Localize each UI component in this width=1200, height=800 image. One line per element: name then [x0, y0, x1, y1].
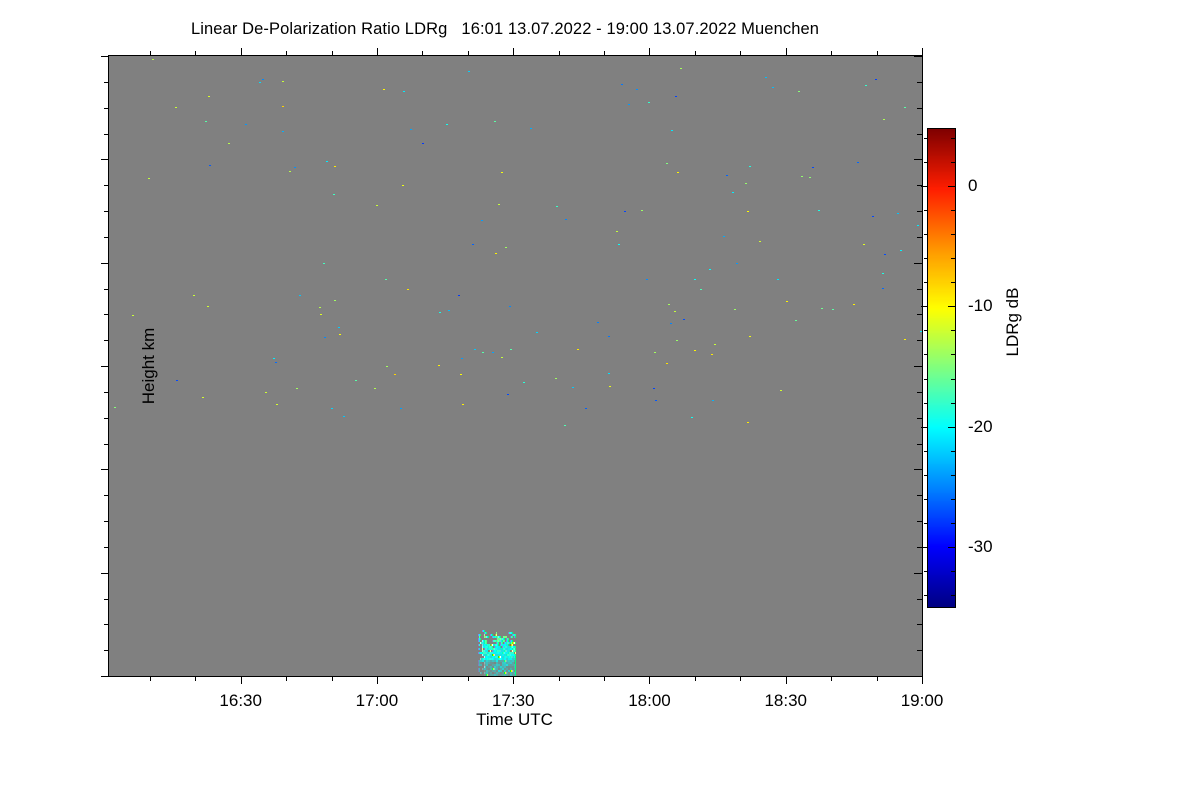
colorbar-tick-mirror	[924, 403, 928, 404]
y-tick-minor	[104, 211, 109, 212]
colorbar-tick-label: 0	[968, 176, 977, 196]
x-tick-minor	[286, 676, 287, 681]
colorbar-tick-mirror	[924, 379, 928, 380]
y-tick-minor	[104, 624, 109, 625]
y-tick-mirror	[917, 418, 922, 419]
y-tick-mirror	[917, 237, 922, 238]
colorbar-tick-label: -30	[968, 537, 993, 557]
colorbar-tick-mirror	[924, 595, 928, 596]
x-tick-mirror	[604, 51, 605, 56]
colorbar-tick-mirror	[921, 186, 928, 187]
x-tick-major	[649, 676, 650, 684]
x-tick-mirror	[786, 48, 787, 56]
x-tick-mirror	[377, 48, 378, 56]
colorbar-tick-minor	[951, 354, 955, 355]
x-tick-label: 19:00	[901, 691, 944, 711]
x-tick-mirror	[649, 48, 650, 56]
y-tick-mirror	[914, 366, 922, 367]
colorbar-tick-mirror	[924, 523, 928, 524]
colorbar-tick-mirror	[921, 427, 928, 428]
colorbar-tick-mirror	[924, 282, 928, 283]
x-tick-minor	[740, 676, 741, 681]
x-tick-label: 16:30	[219, 691, 262, 711]
x-tick-minor	[831, 676, 832, 681]
y-tick-major	[101, 56, 109, 57]
x-tick-major	[241, 676, 242, 684]
colorbar-tick-mirror	[924, 571, 928, 572]
colorbar-tick-mirror	[924, 475, 928, 476]
y-tick-mirror	[914, 263, 922, 264]
colorbar-tick-mirror	[924, 258, 928, 259]
y-tick-mirror	[914, 159, 922, 160]
y-tick-minor	[104, 418, 109, 419]
y-tick-minor	[104, 108, 109, 109]
y-tick-mirror	[917, 521, 922, 522]
y-tick-mirror	[917, 495, 922, 496]
x-tick-mirror	[740, 51, 741, 56]
x-axis-title: Time UTC	[108, 710, 921, 730]
x-tick-minor	[695, 676, 696, 681]
y-tick-minor	[104, 314, 109, 315]
colorbar-tick-mirror	[924, 499, 928, 500]
x-tick-label: 17:30	[492, 691, 535, 711]
colorbar-tick-minor	[951, 210, 955, 211]
colorbar-tick-mirror	[924, 451, 928, 452]
x-tick-mirror	[468, 51, 469, 56]
colorbar-title: LDRg dB	[1003, 242, 1023, 402]
x-tick-major	[786, 676, 787, 684]
colorbar-tick-minor	[951, 162, 955, 163]
y-tick-minor	[104, 134, 109, 135]
colorbar-tick-major	[948, 306, 955, 307]
y-tick-mirror	[917, 340, 922, 341]
y-tick-mirror	[917, 392, 922, 393]
x-tick-mirror	[877, 51, 878, 56]
colorbar-tick-minor	[951, 571, 955, 572]
y-tick-minor	[104, 599, 109, 600]
x-tick-mirror	[286, 51, 287, 56]
colorbar-tick-minor	[951, 138, 955, 139]
y-tick-mirror	[917, 444, 922, 445]
colorbar-tick-major	[948, 427, 955, 428]
y-axis-title: Height km	[139, 286, 159, 446]
x-tick-major	[513, 676, 514, 684]
x-tick-mirror	[559, 51, 560, 56]
x-tick-mirror	[513, 48, 514, 56]
colorbar-tick-major	[948, 186, 955, 187]
x-tick-minor	[559, 676, 560, 681]
y-tick-mirror	[914, 56, 922, 57]
colorbar-tick-minor	[951, 403, 955, 404]
x-tick-mirror	[922, 48, 923, 56]
x-tick-major	[922, 676, 923, 684]
x-tick-minor	[332, 676, 333, 681]
y-tick-mirror	[917, 314, 922, 315]
colorbar-tick-minor	[951, 499, 955, 500]
x-tick-mirror	[241, 48, 242, 56]
y-tick-minor	[104, 392, 109, 393]
colorbar-tick-minor	[951, 234, 955, 235]
colorbar-tick-mirror	[924, 138, 928, 139]
colorbar-tick-mirror	[924, 234, 928, 235]
colorbar-tick-mirror	[921, 547, 928, 548]
x-tick-label: 18:00	[628, 691, 671, 711]
colorbar-tick-mirror	[924, 162, 928, 163]
y-tick-mirror	[917, 108, 922, 109]
y-tick-mirror	[917, 599, 922, 600]
colorbar-tick-minor	[951, 523, 955, 524]
y-tick-major	[101, 573, 109, 574]
x-tick-minor	[604, 676, 605, 681]
y-tick-major	[101, 676, 109, 677]
y-tick-major	[101, 469, 109, 470]
x-tick-label: 17:00	[356, 691, 399, 711]
y-tick-minor	[104, 82, 109, 83]
colorbar-tick-minor	[951, 330, 955, 331]
y-tick-minor	[104, 521, 109, 522]
x-tick-minor	[195, 676, 196, 681]
y-tick-major	[101, 159, 109, 160]
y-tick-minor	[104, 444, 109, 445]
y-tick-mirror	[914, 573, 922, 574]
colorbar-tick-minor	[951, 451, 955, 452]
plot-title: Linear De-Polarization Ratio LDRg 16:01 …	[0, 20, 1010, 39]
x-tick-mirror	[831, 51, 832, 56]
x-tick-minor	[422, 676, 423, 681]
heatmap-canvas-wrap	[109, 56, 922, 676]
y-tick-minor	[104, 547, 109, 548]
colorbar-tick-minor	[951, 258, 955, 259]
y-tick-mirror	[914, 469, 922, 470]
figure-root: Linear De-Polarization Ratio LDRg 16:01 …	[0, 0, 1200, 800]
x-tick-mirror	[332, 51, 333, 56]
y-tick-mirror	[917, 82, 922, 83]
x-tick-label: 18:30	[764, 691, 807, 711]
y-tick-minor	[104, 495, 109, 496]
colorbar-tick-mirror	[924, 330, 928, 331]
y-tick-minor	[104, 185, 109, 186]
x-tick-minor	[877, 676, 878, 681]
colorbar[interactable]: -30-20-100	[927, 128, 956, 608]
x-tick-major	[377, 676, 378, 684]
x-tick-minor	[150, 676, 151, 681]
colorbar-tick-minor	[951, 475, 955, 476]
x-tick-mirror	[695, 51, 696, 56]
y-tick-mirror	[917, 289, 922, 290]
colorbar-tick-label: -20	[968, 417, 993, 437]
x-tick-minor	[468, 676, 469, 681]
colorbar-tick-mirror	[924, 354, 928, 355]
colorbar-tick-minor	[951, 595, 955, 596]
colorbar-tick-minor	[951, 379, 955, 380]
colorbar-gradient	[928, 129, 955, 607]
y-tick-minor	[104, 340, 109, 341]
colorbar-tick-mirror	[921, 306, 928, 307]
ldr-heatmap	[109, 56, 922, 676]
plot-area[interactable]: 024681012 16:3017:0017:3018:0018:3019:00…	[108, 55, 923, 677]
y-tick-minor	[104, 237, 109, 238]
y-tick-mirror	[917, 211, 922, 212]
y-tick-mirror	[917, 624, 922, 625]
y-tick-mirror	[917, 650, 922, 651]
y-tick-mirror	[914, 676, 922, 677]
y-tick-major	[101, 366, 109, 367]
x-tick-mirror	[422, 51, 423, 56]
colorbar-tick-label: -10	[968, 296, 993, 316]
colorbar-tick-mirror	[924, 210, 928, 211]
y-tick-minor	[104, 650, 109, 651]
y-tick-major	[101, 263, 109, 264]
y-tick-mirror	[917, 134, 922, 135]
x-tick-mirror	[150, 51, 151, 56]
x-tick-mirror	[195, 51, 196, 56]
y-tick-minor	[104, 289, 109, 290]
colorbar-tick-major	[948, 547, 955, 548]
colorbar-tick-minor	[951, 282, 955, 283]
